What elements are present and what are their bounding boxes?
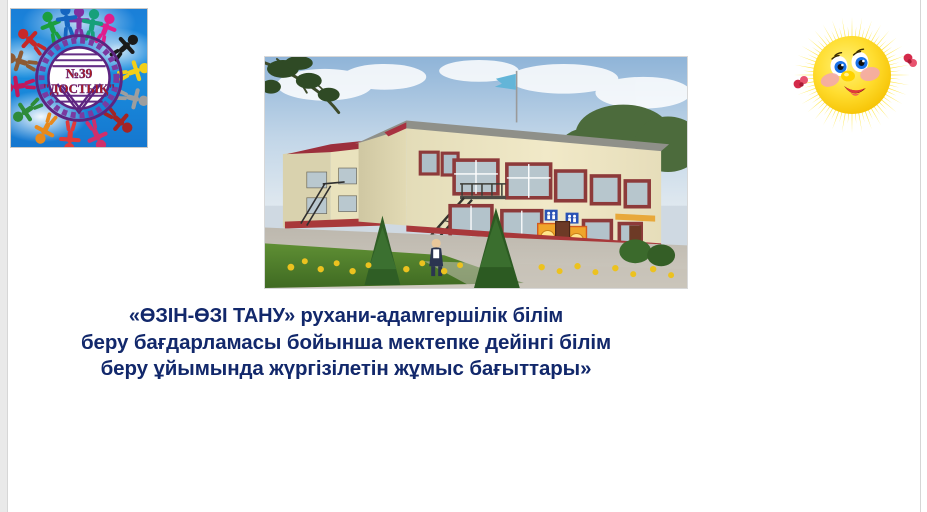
logo-name-text: "ДОСТЫҚ" [43, 82, 116, 96]
sun-graphic [782, 14, 922, 136]
building-photo [264, 56, 688, 289]
sun-bow-left [794, 76, 808, 88]
building-photo-graphic [265, 57, 687, 288]
logo-number-text: №39 [66, 66, 93, 81]
presentation-slide: №39 "ДОСТЫҚ" [0, 0, 927, 512]
slide-left-gutter [0, 0, 8, 512]
logo-graphic: №39 "ДОСТЫҚ" [11, 9, 147, 147]
slide-title: «ӨЗІН-ӨЗІ ТАНУ» рухани-адамгершілік білі… [16, 303, 676, 383]
title-line-3: беру ұйымында жүргізілетін жұмыс бағытта… [16, 356, 676, 383]
logo-emblem: №39 "ДОСТЫҚ" [10, 8, 148, 148]
sun-decoration [782, 14, 922, 136]
title-line-1: «ӨЗІН-ӨЗІ ТАНУ» рухани-адамгершілік білі… [16, 303, 676, 330]
title-line-2: беру бағдарламасы бойынша мектепке дейін… [16, 330, 676, 357]
sun-bow-right [904, 54, 917, 67]
